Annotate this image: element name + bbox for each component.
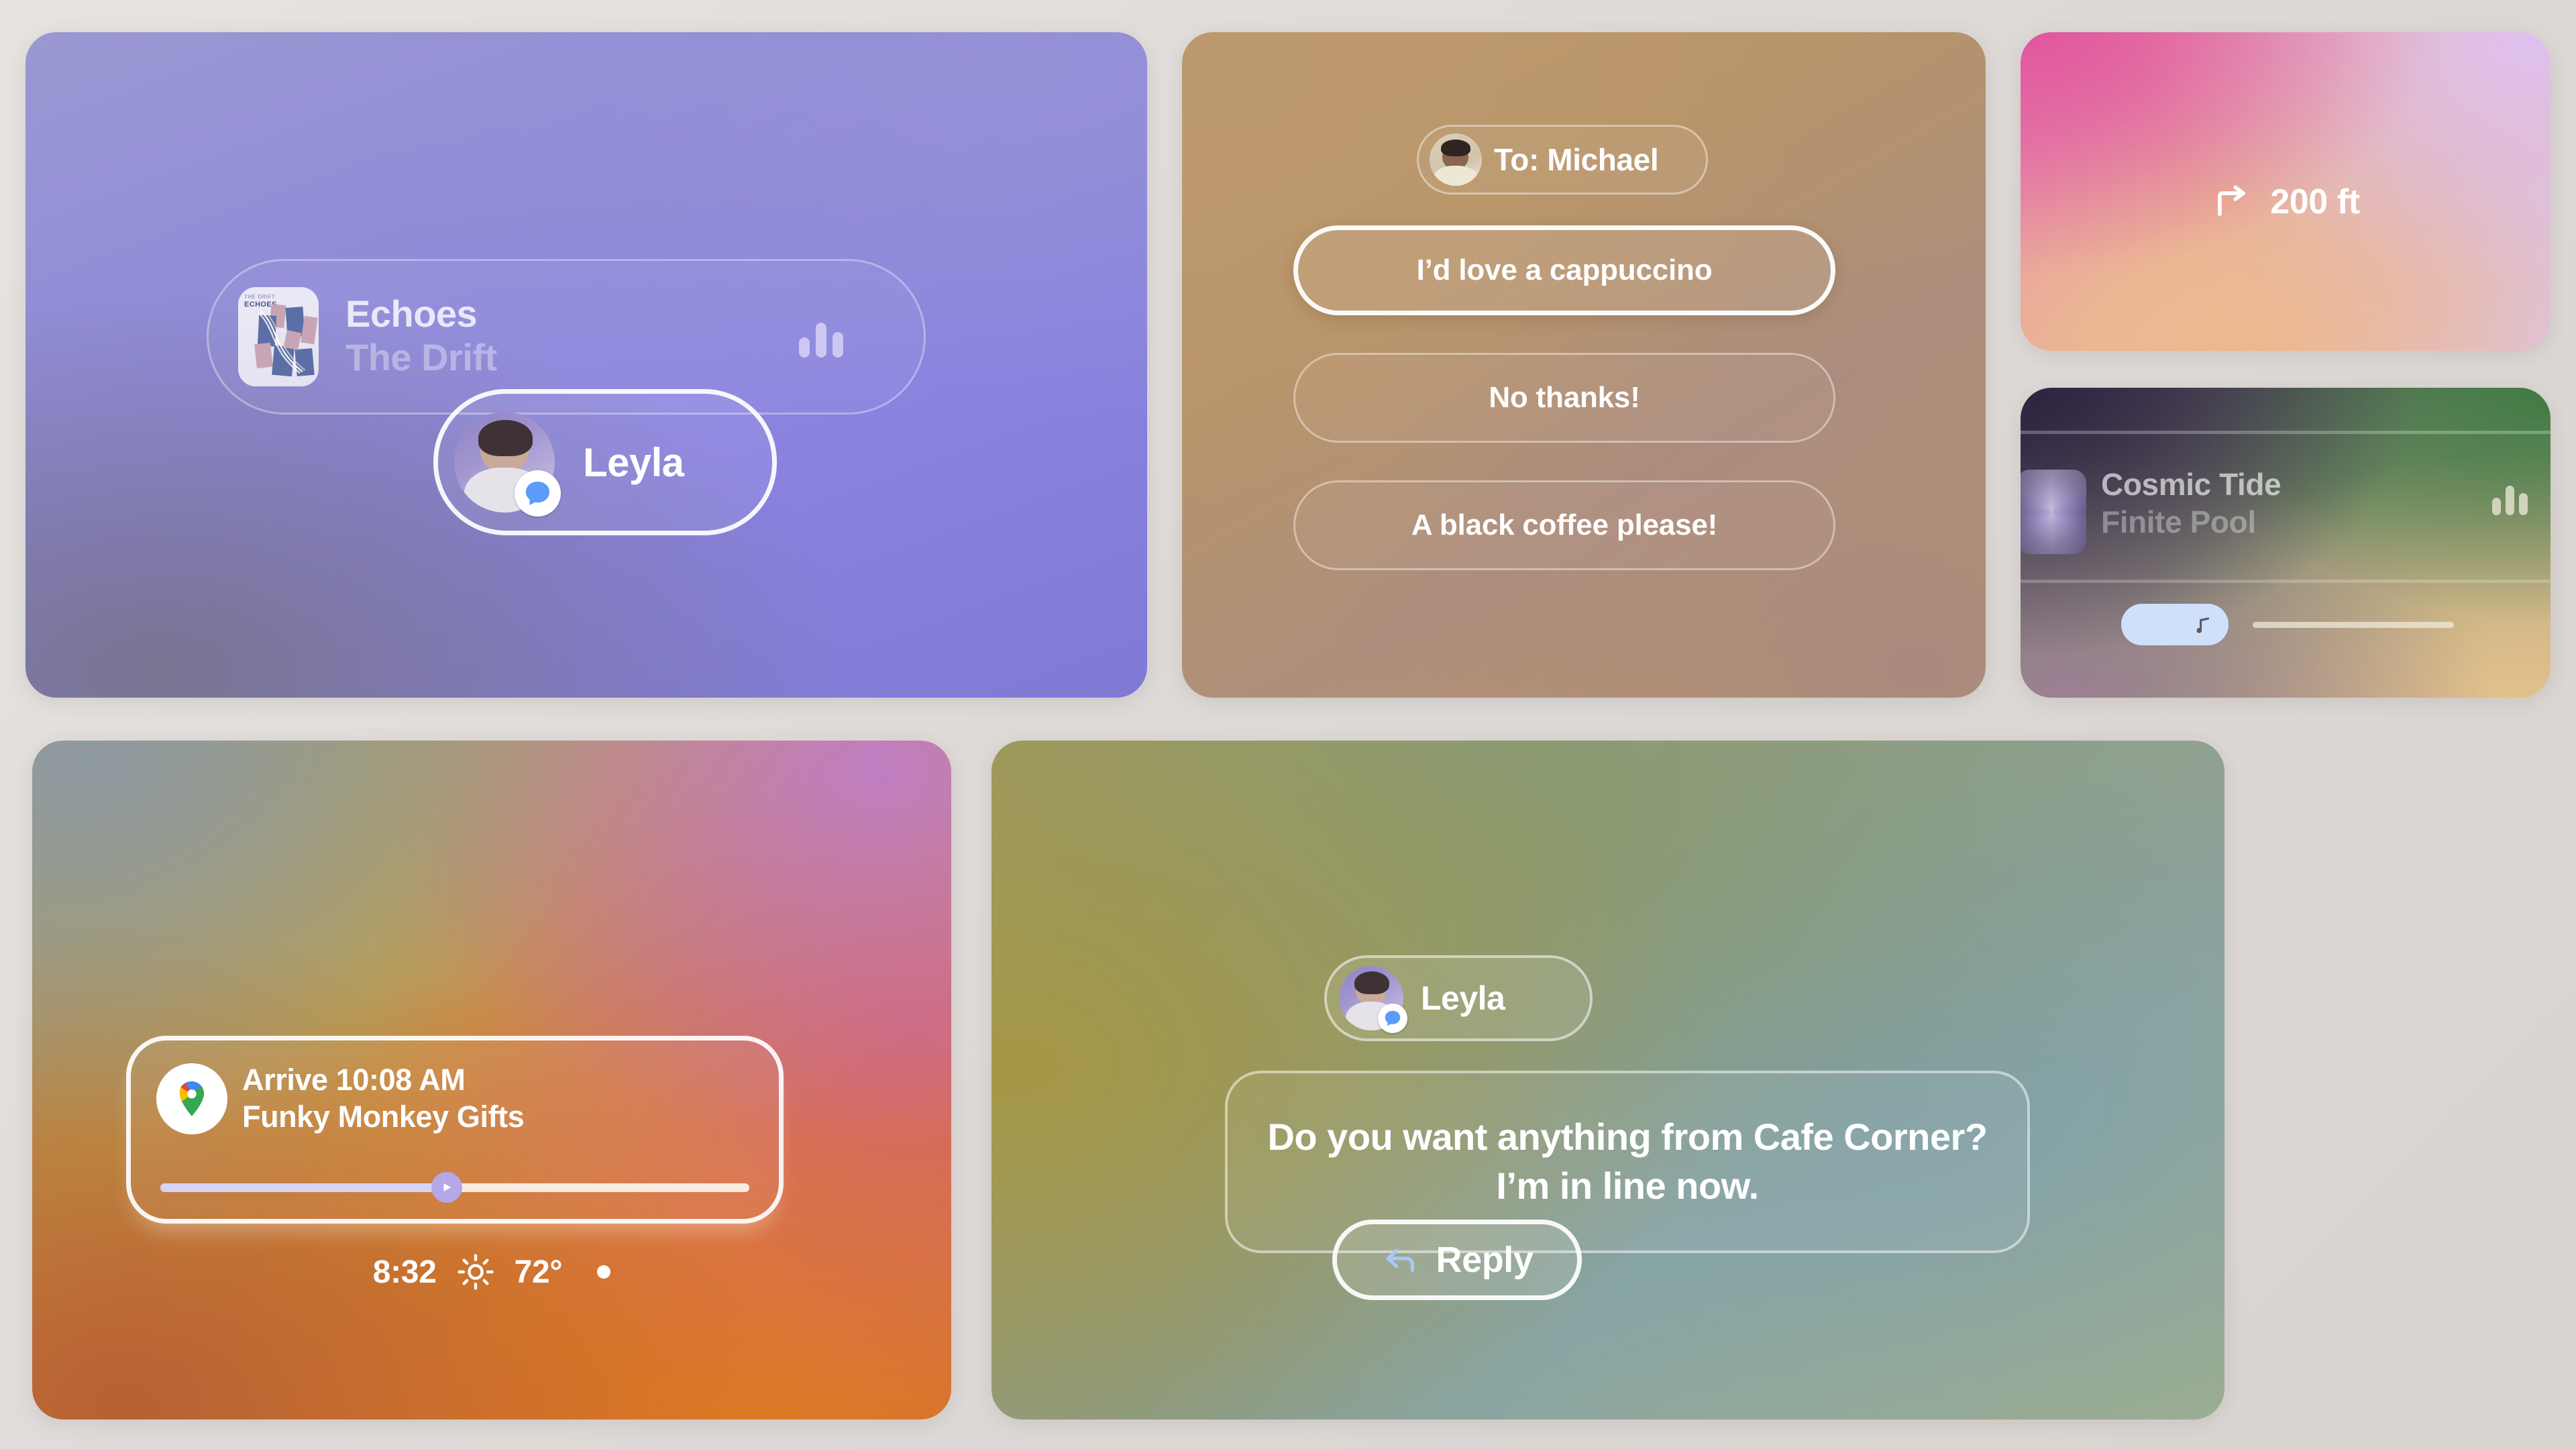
cosmic-now-playing-panel[interactable]: Cosmic Tide Finite Pool	[2021, 388, 2551, 698]
volume-slider[interactable]	[2121, 604, 2524, 645]
slider-fill	[160, 1183, 443, 1192]
route-eta: Arrive 10:08 AM	[242, 1063, 524, 1097]
avatar	[1430, 133, 1482, 186]
status-dot	[597, 1265, 610, 1279]
reply-button[interactable]: Reply	[1332, 1220, 1582, 1300]
reply-option-0[interactable]: I’d love a cappuccino	[1293, 225, 1835, 315]
messages-bubble-icon	[1378, 1004, 1407, 1033]
divider-bottom	[2021, 580, 2551, 583]
equalizer-icon	[2492, 486, 2528, 515]
avatar	[454, 412, 555, 513]
play-triangle-icon	[439, 1180, 454, 1195]
message-bubble: Do you want anything from Cafe Corner? I…	[1225, 1071, 2030, 1253]
reply-option-2[interactable]: A black coffee please!	[1293, 480, 1835, 570]
route-panel[interactable]: Arrive 10:08 AM Funky Monkey Gifts 8:32	[32, 741, 951, 1419]
suggested-replies-panel[interactable]: To: Michael I’d love a cappuccino No tha…	[1182, 32, 1986, 698]
now-playing-panel[interactable]: THE DRIFT ECHOES Echoes The Drift	[25, 32, 1147, 698]
navigation-panel[interactable]: 200 ft	[2021, 32, 2551, 351]
reply-arrow-icon	[1381, 1240, 1421, 1280]
status-time: 8:32	[373, 1254, 437, 1291]
track-artist: The Drift	[345, 337, 497, 379]
google-maps-pin-icon	[156, 1063, 227, 1134]
route-progress-slider[interactable]	[160, 1172, 749, 1201]
album-art: THE DRIFT ECHOES	[238, 287, 319, 386]
sender-name: Leyla	[1421, 979, 1505, 1018]
messages-bubble-icon	[515, 470, 561, 517]
divider-top	[2021, 431, 2551, 434]
widget-canvas: THE DRIFT ECHOES Echoes The Drift	[0, 0, 2576, 1449]
status-temperature: 72°	[515, 1254, 563, 1291]
slider-thumb[interactable]	[2121, 604, 2229, 645]
contact-chip-leyla[interactable]: Leyla	[433, 389, 777, 535]
sun-icon	[457, 1253, 494, 1291]
route-card[interactable]: Arrive 10:08 AM Funky Monkey Gifts	[126, 1036, 784, 1224]
sender-chip[interactable]: Leyla	[1324, 955, 1593, 1041]
route-destination: Funky Monkey Gifts	[242, 1099, 524, 1134]
album-art	[2021, 470, 2086, 554]
reply-option-1[interactable]: No thanks!	[1293, 353, 1835, 443]
route-header: Arrive 10:08 AM Funky Monkey Gifts	[131, 1040, 779, 1134]
album-art-wave-icon	[238, 287, 319, 386]
turn-right-icon	[2211, 181, 2253, 223]
message-panel[interactable]: Leyla Do you want anything from Cafe Cor…	[991, 741, 2224, 1419]
slider-track[interactable]	[2253, 622, 2454, 628]
message-body: Do you want anything from Cafe Corner? I…	[1228, 1113, 2027, 1211]
status-row: 8:32 72°	[32, 1253, 951, 1291]
maneuver-row: 200 ft	[2021, 181, 2551, 223]
recipient-chip[interactable]: To: Michael	[1417, 125, 1708, 195]
track-info: Echoes The Drift	[345, 294, 497, 379]
track-info: Cosmic Tide Finite Pool	[2101, 468, 2281, 539]
route-text: Arrive 10:08 AM Funky Monkey Gifts	[242, 1063, 524, 1134]
reply-button-label: Reply	[1436, 1239, 1533, 1281]
contact-name: Leyla	[583, 439, 684, 486]
avatar	[1339, 966, 1403, 1030]
track-title: Echoes	[345, 294, 497, 334]
equalizer-icon	[799, 323, 843, 358]
slider-thumb[interactable]	[431, 1172, 462, 1203]
track-title: Cosmic Tide	[2101, 468, 2281, 502]
recipient-label: To: Michael	[1494, 142, 1658, 178]
track-artist: Finite Pool	[2101, 504, 2281, 539]
maneuver-distance: 200 ft	[2270, 182, 2359, 222]
music-note-icon	[2192, 611, 2215, 638]
